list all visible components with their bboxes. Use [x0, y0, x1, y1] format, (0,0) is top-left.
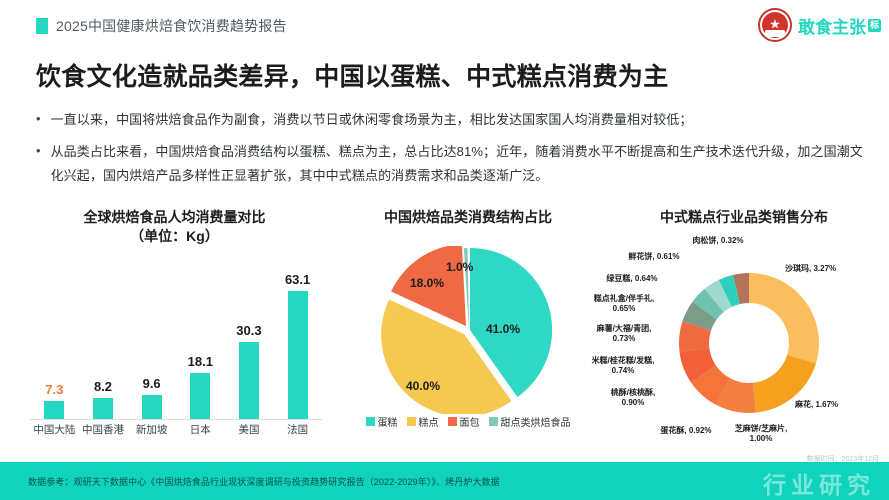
bar-series: 7.3 8.2 9.6 18.1 30.3 [30, 259, 322, 419]
bullet-dot-icon: • [36, 108, 41, 132]
bar-category-label: 法国 [274, 422, 322, 437]
bullet-text: 一直以来，中国将烘焙食品作为副食，消费以节日或休闲零食场景为主，相比发达国家国人… [51, 108, 693, 132]
donut-label-zhimabing: 芝麻饼/芝麻片, 1.00% [723, 424, 799, 444]
bullet-item: • 从品类占比来看，中国烘焙食品消费结构以蛋糕、糕点为主，总占比达81%；近年，… [36, 140, 866, 188]
bar-rect [93, 398, 113, 419]
bar-category-label: 中国香港 [79, 422, 127, 437]
header-accent-bar [36, 18, 48, 34]
pie-value-label-dessert: 1.0% [446, 260, 473, 274]
donut-label-text: 糕点礼盒/伴手礼, [594, 294, 654, 303]
bar-value-label: 9.6 [143, 376, 161, 391]
brand-name-text: 敢食主张 [798, 13, 866, 38]
bar-rect [142, 395, 162, 419]
brand-name: 敢食主张 标 [798, 13, 881, 38]
legend-swatch-icon [448, 417, 457, 426]
bar-column: 7.3 [30, 382, 78, 419]
donut-plot-area: 肉松饼, 0.32% 鲜花饼, 0.61% 绿豆糕, 0.64% 糕点礼盒/伴手… [599, 238, 889, 448]
bar-value-label: 18.1 [188, 354, 213, 369]
pie-value-label-cake: 41.0% [486, 322, 520, 336]
legend-item-dessert: 甜点类烘焙食品 [489, 414, 571, 429]
donut-label-taosu: 桃酥/核桃酥, 0.90% [595, 388, 671, 408]
bar-value-label: 30.3 [236, 323, 261, 338]
bar-column: 18.1 [176, 354, 224, 419]
donut-label-rousongbing: 肉松饼, 0.32% [683, 236, 753, 246]
legend-label: 糕点 [419, 414, 439, 429]
pie-value-label-bread: 18.0% [410, 276, 444, 290]
pie-plot-area: 41.0% 40.0% 18.0% 1.0% [368, 254, 568, 406]
donut-label-mashu: 麻薯/大福/青团, 0.73% [585, 324, 663, 344]
legend-label: 面包 [460, 414, 480, 429]
legend-swatch-icon [489, 417, 498, 426]
bar-category-label: 美国 [225, 422, 273, 437]
bar-value-label: 7.3 [45, 382, 63, 397]
donut-label-pct: 0.74% [612, 366, 635, 375]
bar-chart-subtitle: （单位：Kg） [12, 227, 337, 246]
official-seal-icon: ★ [758, 8, 792, 42]
bar-category-label: 中国大陆 [30, 422, 78, 437]
donut-label-gift-box: 糕点礼盒/伴手礼, 0.65% [585, 294, 663, 314]
legend-label: 甜点类烘焙食品 [501, 414, 571, 429]
donut-label-pct: 1.00% [750, 434, 773, 443]
slide-footer: 数据参考：观研天下数据中心《中国烘焙食品行业现状深度调研与投资趋势研究报告（20… [0, 462, 889, 500]
slide-page: 2025中国健康烘焙食饮消费趋势报告 ★ 敢食主张 标 饮食文化造就品类差异，中… [0, 0, 889, 500]
bullet-item: • 一直以来，中国将烘焙食品作为副食，消费以节日或休闲零食场景为主，相比发达国家… [36, 108, 866, 132]
footer-source-text: 数据参考：观研天下数据中心《中国烘焙食品行业现状深度调研与投资趋势研究报告（20… [28, 475, 500, 488]
legend-swatch-icon [407, 417, 416, 426]
bar-rect [44, 401, 64, 419]
bar-value-label: 8.2 [94, 379, 112, 394]
donut-label-shaqima: 沙琪玛, 3.27% [785, 264, 836, 274]
bar-category-label: 日本 [176, 422, 224, 437]
bar-plot-area: 7.3 8.2 9.6 18.1 30.3 [30, 260, 322, 420]
bar-rect [288, 291, 308, 419]
brand-logo: ★ 敢食主张 标 [758, 6, 881, 44]
bar-column: 63.1 [274, 272, 322, 419]
donut-label-migao: 米糕/桂花糕/发糕, 0.74% [581, 356, 665, 376]
chart-donut-chinese-pastry: 中式糕点行业品类销售分布 [599, 208, 889, 458]
footer-watermark: 行业研究 [763, 466, 875, 500]
pie-value-label-pastry: 40.0% [406, 379, 440, 393]
legend-item-bread: 面包 [448, 414, 480, 429]
pie-chart-title: 中国烘焙品类消费结构占比 [337, 208, 599, 227]
pie-legend: 蛋糕 糕点 面包 甜点类烘焙食品 [337, 414, 599, 429]
donut-label-text: 芝麻饼/芝麻片, [735, 424, 787, 433]
bar-column: 9.6 [128, 376, 176, 419]
bullet-text: 从品类占比来看，中国烘焙食品消费结构以蛋糕、糕点为主，总占比达81%；近年，随着… [51, 140, 866, 188]
donut-label-pct: 0.73% [613, 334, 636, 343]
chart-pie-structure: 中国烘焙品类消费结构占比 41.0% 40.0% 18.0% 1.0% 蛋糕 [337, 208, 599, 448]
bullet-dot-icon: • [36, 140, 41, 188]
bar-rect [239, 342, 259, 419]
bar-column: 30.3 [225, 323, 273, 419]
report-label: 2025中国健康烘焙食饮消费趋势报告 [56, 16, 287, 36]
legend-item-pastry: 糕点 [407, 414, 439, 429]
bar-category-label: 新加坡 [128, 422, 176, 437]
slide-header: 2025中国健康烘焙食饮消费趋势报告 ★ 敢食主张 标 [0, 0, 889, 48]
legend-item-cake: 蛋糕 [366, 414, 398, 429]
donut-label-danhuasu: 蛋花酥, 0.92% [651, 426, 721, 436]
page-title: 饮食文化造就品类差异，中国以蛋糕、中式糕点消费为主 [36, 57, 836, 93]
donut-chart-title: 中式糕点行业品类销售分布 [599, 208, 889, 227]
bullet-list: • 一直以来，中国将烘焙食品作为副食，消费以节日或休闲零食场景为主，相比发达国家… [36, 108, 866, 196]
donut-label-lvdougao: 绿豆糕, 0.64% [599, 274, 665, 284]
chart-bar-consumption: 全球烘焙食品人均消费量对比 （单位：Kg） 7.3 8.2 9.6 18.1 [12, 208, 337, 448]
donut-label-text: 米糕/桂花糕/发糕, [592, 356, 655, 365]
bar-category-axis: 中国大陆 中国香港 新加坡 日本 美国 法国 [30, 422, 322, 437]
donut-label-text: 麻薯/大福/青团, [597, 324, 652, 333]
bar-column: 8.2 [79, 379, 127, 419]
donut-label-xianhuabing: 鲜花饼, 0.61% [621, 252, 687, 262]
donut-label-pct: 0.65% [613, 304, 636, 313]
bar-chart-title: 全球烘焙食品人均消费量对比 [12, 208, 337, 227]
brand-badge: 标 [868, 19, 881, 32]
donut-label-pct: 0.90% [622, 398, 645, 407]
donut-label-mahua: 麻花, 1.67% [795, 400, 838, 410]
legend-label: 蛋糕 [378, 414, 398, 429]
legend-swatch-icon [366, 417, 375, 426]
bar-rect [190, 373, 210, 419]
bar-value-label: 63.1 [285, 272, 310, 287]
donut-label-text: 桃酥/核桃酥, [611, 388, 655, 397]
